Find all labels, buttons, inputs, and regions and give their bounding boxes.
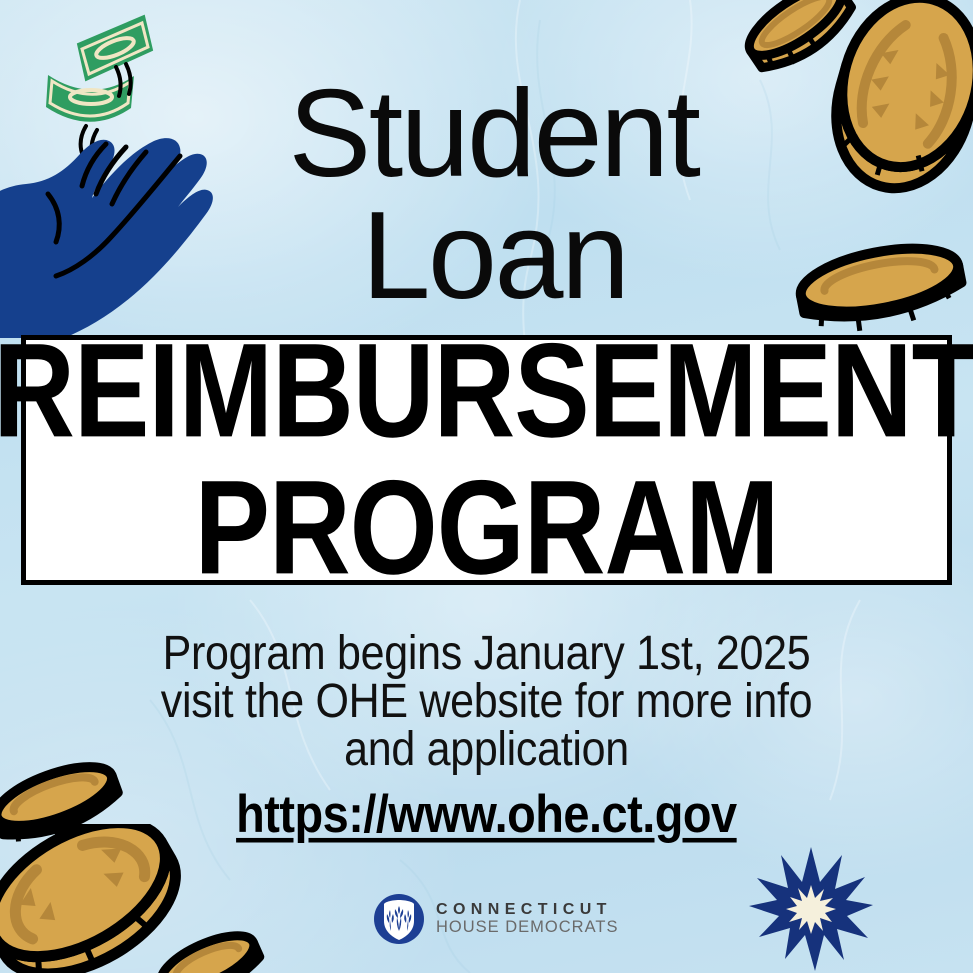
body-line-1: Program begins January 1st, 2025 (0, 630, 973, 678)
body-copy: Program begins January 1st, 2025 visit t… (0, 630, 973, 774)
ct-house-democrats-logo: CONNECTICUT HOUSE DEMOCRATS (373, 893, 618, 945)
banner-line-reimbursement: REIMBURSEMENT (0, 331, 973, 451)
logo-wordmark: CONNECTICUT HOUSE DEMOCRATS (436, 901, 618, 936)
website-url-text[interactable]: https://www.ohe.ct.gov (236, 783, 737, 845)
title-line-2: Loan (0, 196, 973, 318)
page-title: Student Loan (0, 74, 973, 317)
body-line-3: and application (0, 726, 973, 774)
logo-line-connecticut: CONNECTICUT (436, 901, 618, 918)
banner-box: REIMBURSEMENT PROGRAM (21, 335, 952, 585)
website-url[interactable]: https://www.ohe.ct.gov (0, 787, 973, 841)
connecticut-seal-icon (373, 893, 425, 945)
banner-line-program: PROGRAM (195, 468, 779, 588)
logo-line-house-democrats: HOUSE DEMOCRATS (436, 919, 618, 937)
title-line-1: Student (0, 74, 973, 196)
body-line-2: visit the OHE website for more info (0, 678, 973, 726)
poster-canvas: Student Loan REIMBURSEMENT PROGRAM Progr… (0, 0, 973, 973)
